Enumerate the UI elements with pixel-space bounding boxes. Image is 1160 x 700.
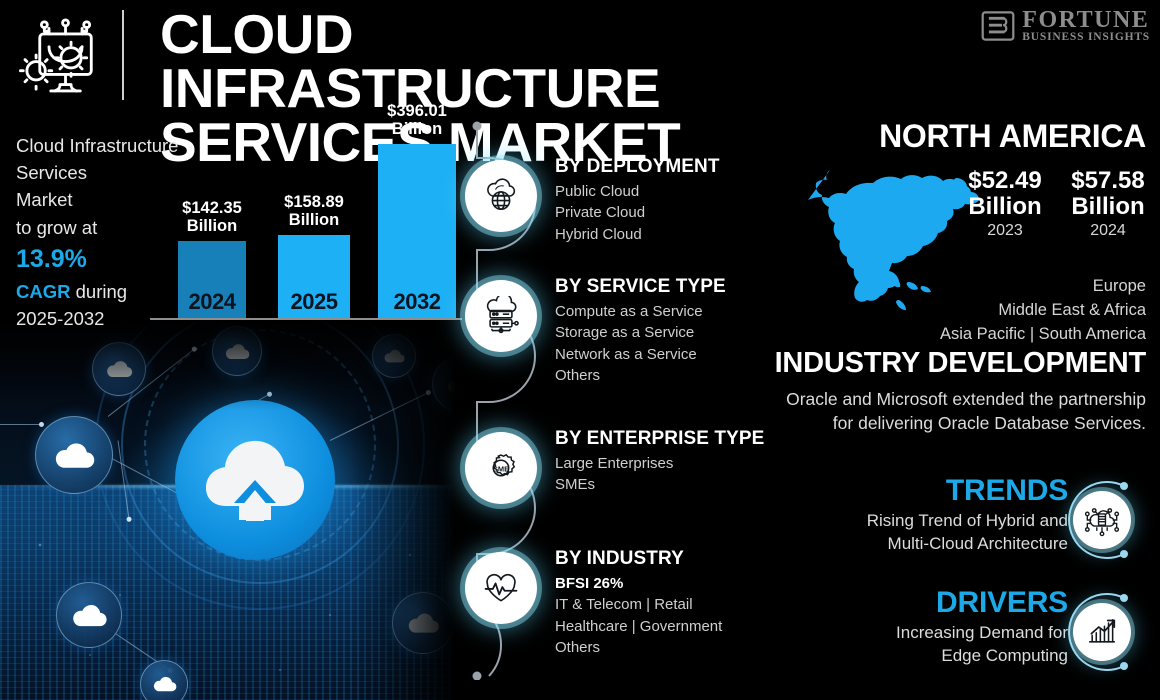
drivers-title: DRIVERS bbox=[768, 586, 1068, 620]
chart-bar-group: $396.01Billion2032 bbox=[378, 144, 456, 318]
cloud-node-icon bbox=[140, 660, 188, 700]
region-figure-value: $52.49Billion bbox=[955, 168, 1055, 220]
other-regions-list: Europe Middle East & Africa Asia Pacific… bbox=[846, 275, 1146, 346]
cloud-node-icon bbox=[35, 416, 113, 494]
sme-gear-icon[interactable]: SME bbox=[465, 432, 537, 504]
region-item: Europe bbox=[846, 275, 1146, 299]
chart-bar: $396.01Billion2032 bbox=[378, 144, 456, 318]
chart-bar-year: 2032 bbox=[394, 289, 441, 318]
industry-development-body: Oracle and Microsoft extended the partne… bbox=[766, 388, 1146, 435]
network-link bbox=[0, 424, 42, 425]
chart-bar-year: 2024 bbox=[189, 289, 236, 318]
region-item: Middle East & Africa bbox=[846, 299, 1146, 323]
central-cloud-upload-icon bbox=[175, 400, 335, 560]
brand-tagline: BUSINESS INSIGHTS bbox=[1022, 32, 1150, 44]
chart-bar-year: 2025 bbox=[291, 289, 338, 318]
region-title: NORTH AMERICA bbox=[879, 118, 1146, 155]
art-top-fade bbox=[0, 320, 470, 410]
region-figure: $57.58Billion2024 bbox=[1058, 168, 1158, 240]
heartbeat-icon[interactable] bbox=[465, 552, 537, 624]
segment-item: Storage as a Service bbox=[555, 322, 845, 343]
cagr-label: CAGR bbox=[16, 281, 70, 302]
growth-bar-chart-arrow-icon bbox=[1073, 603, 1131, 661]
intro-during: during bbox=[76, 281, 127, 302]
trends-line1: Rising Trend of Hybrid and bbox=[768, 510, 1068, 533]
drivers-line1: Increasing Demand for bbox=[768, 622, 1068, 645]
cloud-server-icon[interactable] bbox=[465, 280, 537, 352]
header-divider bbox=[122, 10, 124, 100]
chart-bar: $158.89Billion2025 bbox=[278, 235, 350, 318]
brand-logo: FORTUNE BUSINESS INSIGHTS bbox=[981, 8, 1150, 44]
region-figure-year: 2024 bbox=[1058, 222, 1158, 240]
page-title-line1: CLOUD INFRASTRUCTURE bbox=[160, 8, 840, 116]
chart-bar-label: $158.89Billion bbox=[284, 194, 344, 235]
trends-title: TRENDS bbox=[768, 474, 1068, 508]
region-figure-year: 2023 bbox=[955, 222, 1055, 240]
fortune-fb-monogram-icon bbox=[981, 9, 1015, 43]
chart-bar-label: $142.35Billion bbox=[182, 200, 242, 241]
svg-text:SME: SME bbox=[493, 464, 509, 473]
industry-development-title: INDUSTRY DEVELOPMENT bbox=[775, 347, 1146, 380]
cloud-node-icon bbox=[56, 582, 122, 648]
trends-line2: Multi-Cloud Architecture bbox=[768, 533, 1068, 556]
industry-development-line1: Oracle and Microsoft extended the partne… bbox=[766, 388, 1146, 412]
chart-baseline bbox=[150, 318, 462, 320]
drivers-line2: Edge Computing bbox=[768, 645, 1068, 668]
chart-bar-label: $396.01Billion bbox=[387, 103, 447, 144]
drivers-block: DRIVERS Increasing Demand for Edge Compu… bbox=[768, 586, 1068, 668]
drivers-text: Increasing Demand for Edge Computing bbox=[768, 622, 1068, 668]
cloud-globe-icon[interactable] bbox=[465, 160, 537, 232]
region-figure: $52.49Billion2023 bbox=[955, 168, 1055, 240]
market-size-bar-chart: $142.35Billion2024$158.89Billion2025$396… bbox=[150, 140, 450, 320]
brand-name: FORTUNE bbox=[1022, 8, 1150, 32]
industry-development-line2: for delivering Oracle Database Services. bbox=[766, 412, 1146, 436]
trends-block: TRENDS Rising Trend of Hybrid and Multi-… bbox=[768, 474, 1068, 556]
cloud-city-background-art bbox=[0, 320, 470, 700]
infographic-root: CLOUD INFRASTRUCTURE SERVICES MARKET FOR… bbox=[0, 0, 1160, 700]
segment-item: Large Enterprises bbox=[555, 453, 845, 474]
region-item: Asia Pacific | South America bbox=[846, 323, 1146, 347]
cloud-network-server-icon bbox=[1073, 491, 1131, 549]
cloud-computing-monitor-icon bbox=[14, 10, 106, 102]
chart-bar-group: $158.89Billion2025 bbox=[278, 235, 350, 318]
chart-bar: $142.35Billion2024 bbox=[178, 241, 246, 318]
region-figure-value: $57.58Billion bbox=[1058, 168, 1158, 220]
trends-text: Rising Trend of Hybrid and Multi-Cloud A… bbox=[768, 510, 1068, 556]
chart-bar-group: $142.35Billion2024 bbox=[178, 241, 246, 318]
